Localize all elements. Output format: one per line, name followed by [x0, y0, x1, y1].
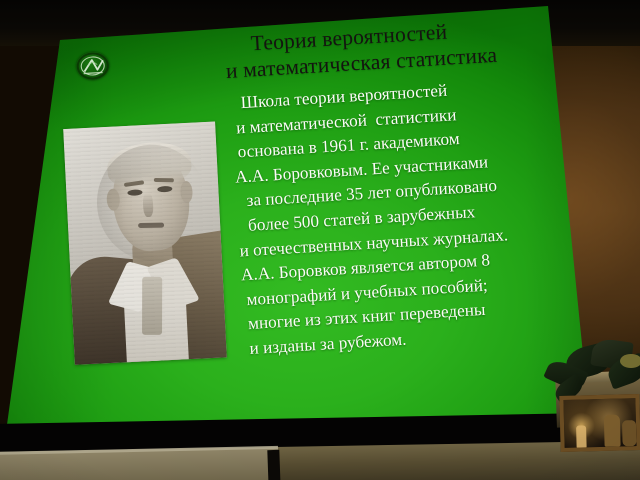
slide-content: Теория вероятностей и математическая ста…	[58, 0, 616, 429]
desk-front-panel	[0, 449, 279, 480]
screenshot-stage: Теория вероятностей и математическая ста…	[0, 0, 640, 480]
framed-picture	[559, 394, 640, 452]
institute-emblem-icon	[75, 51, 110, 81]
slide-body-text: Школа теории вероятностей и математическ…	[226, 70, 602, 362]
desk-seam	[267, 450, 280, 480]
portrait-photo	[63, 122, 227, 365]
projection-screen: Теория вероятностей и математическая ста…	[0, 0, 640, 480]
portrait-photo-grain	[63, 122, 227, 365]
